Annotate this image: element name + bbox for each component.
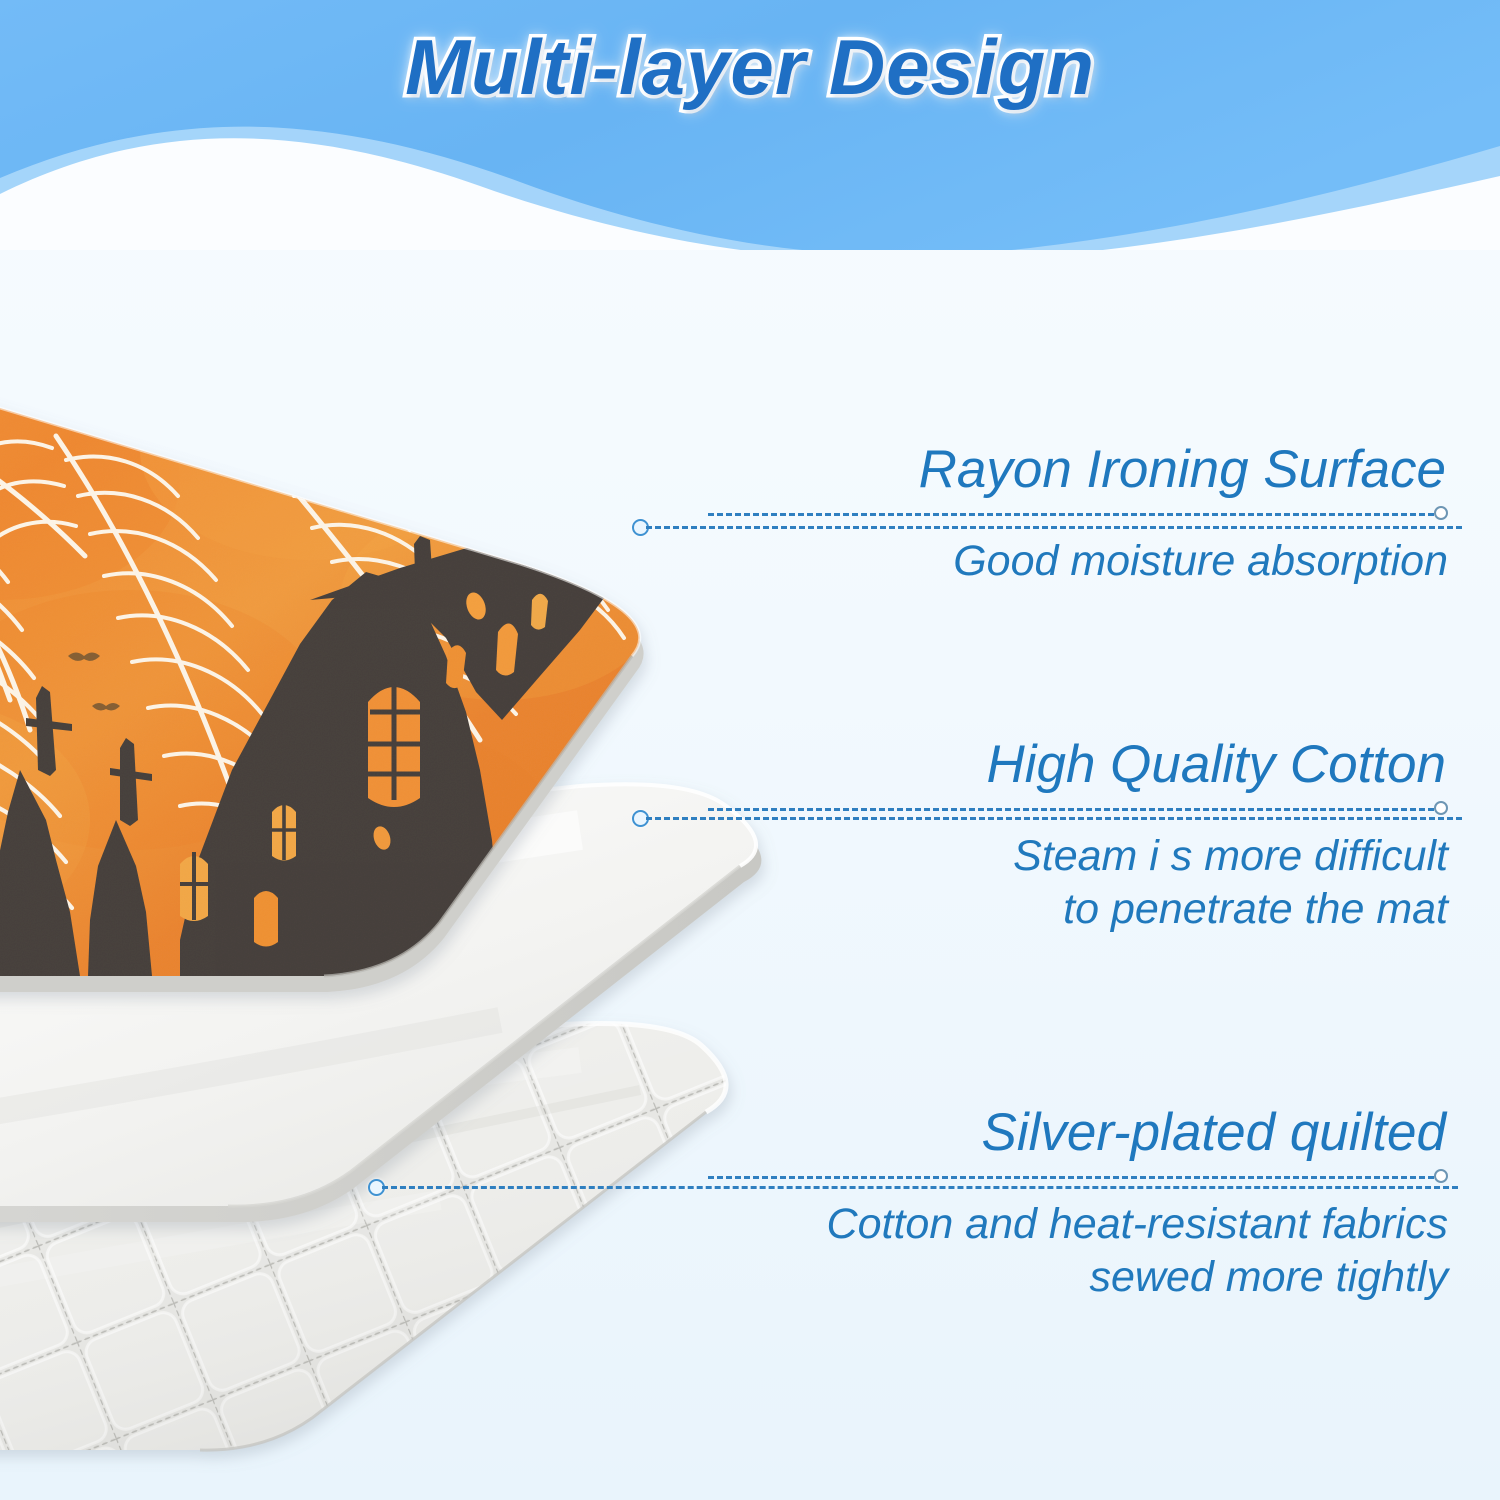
callout-body-line: to penetrate the mat — [708, 883, 1448, 935]
callout-title: Silver-plated quilted — [708, 1103, 1448, 1162]
connector-dash-line — [646, 817, 1462, 820]
infographic-page: Multi-layer Design — [0, 0, 1500, 1500]
header-banner: Multi-layer Design — [0, 0, 1500, 250]
callout-body-line: Cotton and heat-resistant fabrics — [708, 1198, 1448, 1250]
callout-title: High Quality Cotton — [708, 735, 1448, 794]
connector-dash-line — [646, 526, 1462, 529]
connector-dash-line — [382, 1186, 1458, 1189]
divider-dash-line — [708, 513, 1434, 516]
callout-high-quality-cotton: High Quality Cotton Steam i s more diffi… — [708, 735, 1448, 935]
callout-body-line: Good moisture absorption — [708, 535, 1448, 587]
callout-body-line: Steam i s more difficult — [708, 830, 1448, 882]
callout-body: Good moisture absorption — [708, 535, 1448, 587]
callout-body: Cotton and heat-resistant fabrics sewed … — [708, 1198, 1448, 1303]
connector-line-high-quality-cotton — [632, 810, 1462, 828]
connector-line-silver-plated-quilted — [368, 1179, 1458, 1197]
callout-rayon-ironing-surface: Rayon Ironing Surface Good moisture abso… — [708, 440, 1448, 588]
callout-body-line: sewed more tightly — [708, 1251, 1448, 1303]
connector-line-rayon-ironing-surface — [632, 519, 1462, 537]
callout-silver-plated-quilted: Silver-plated quilted Cotton and heat-re… — [708, 1103, 1448, 1303]
page-title: Multi-layer Design — [0, 22, 1500, 113]
callout-body: Steam i s more difficult to penetrate th… — [708, 830, 1448, 935]
callout-title: Rayon Ironing Surface — [708, 440, 1448, 499]
